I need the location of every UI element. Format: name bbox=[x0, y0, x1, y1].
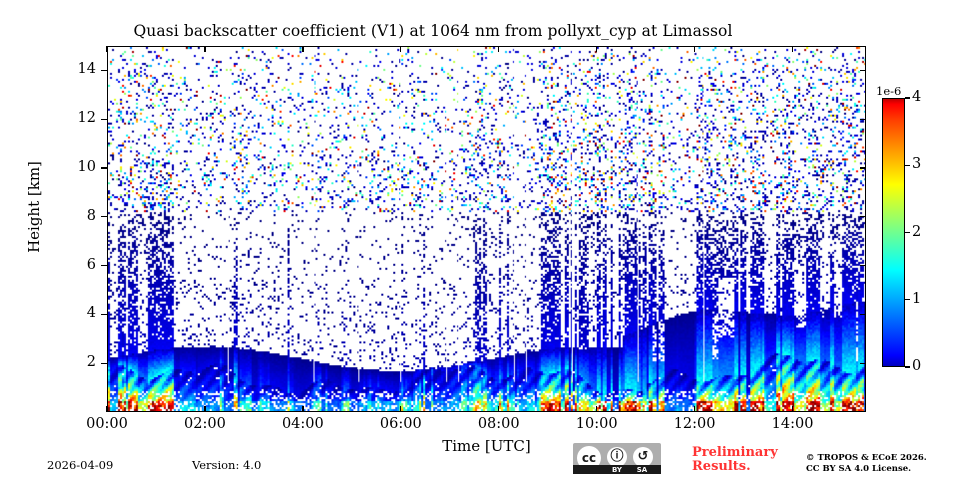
x-tick-mark bbox=[302, 46, 303, 52]
x-tick-mark bbox=[400, 46, 401, 52]
x-tick-mark bbox=[792, 46, 793, 52]
x-tick-mark bbox=[204, 406, 205, 412]
colorbar-tick-mark bbox=[905, 232, 910, 233]
x-tick-label: 02:00 bbox=[170, 416, 240, 432]
colorbar-tick-label: 1 bbox=[912, 291, 921, 307]
y-tick-mark bbox=[101, 167, 107, 168]
x-tick-label: 06:00 bbox=[366, 416, 436, 432]
cc-license-badge-icon[interactable]: cc ⓘ ↺ BY SA bbox=[573, 443, 661, 474]
page-title: Quasi backscatter coefficient (V1) at 10… bbox=[0, 22, 866, 40]
y-tick-label: 12 bbox=[56, 110, 96, 126]
y-tick-mark bbox=[860, 363, 866, 364]
x-tick-label: 14:00 bbox=[758, 416, 828, 432]
cc-sa-sharealike-icon: ↺ bbox=[633, 447, 653, 467]
y-tick-mark bbox=[860, 119, 866, 120]
x-tick-mark bbox=[106, 406, 107, 412]
y-tick-mark bbox=[860, 70, 866, 71]
x-tick-label: 10:00 bbox=[562, 416, 632, 432]
preliminary-results-notice: Preliminary Results. bbox=[692, 446, 778, 474]
cc-by-person-icon: ⓘ bbox=[607, 447, 627, 467]
preliminary-line-1: Preliminary bbox=[692, 446, 778, 460]
x-tick-mark bbox=[792, 406, 793, 412]
footer-date: 2026-04-09 bbox=[47, 458, 113, 472]
colorbar-tick-mark bbox=[905, 366, 910, 367]
copyright-line-1: © TROPOS & ECoE 2026. bbox=[806, 453, 927, 464]
colorbar-tick-label: 2 bbox=[912, 224, 921, 240]
y-tick-mark bbox=[860, 167, 866, 168]
copyright-notice: © TROPOS & ECoE 2026. CC BY SA 4.0 Licen… bbox=[806, 453, 927, 475]
y-tick-mark bbox=[860, 216, 866, 217]
y-tick-mark bbox=[101, 265, 107, 266]
cc-badge-top: cc ⓘ ↺ bbox=[573, 443, 661, 465]
x-tick-mark bbox=[400, 406, 401, 412]
y-tick-mark bbox=[101, 363, 107, 364]
y-tick-mark bbox=[860, 265, 866, 266]
copyright-line-2: CC BY SA 4.0 License. bbox=[806, 464, 927, 475]
cc-sa-label: SA bbox=[631, 466, 653, 474]
y-tick-mark bbox=[101, 70, 107, 71]
y-tick-label: 6 bbox=[56, 257, 96, 273]
y-tick-mark bbox=[101, 216, 107, 217]
plot-area[interactable] bbox=[107, 46, 866, 412]
y-tick-label: 8 bbox=[56, 208, 96, 224]
x-tick-label: 00:00 bbox=[72, 416, 142, 432]
x-tick-mark bbox=[498, 406, 499, 412]
y-tick-mark bbox=[101, 314, 107, 315]
cc-by-label: BY bbox=[606, 466, 628, 474]
colorbar-tick-label: 0 bbox=[912, 358, 921, 374]
x-tick-mark bbox=[694, 46, 695, 52]
x-tick-mark bbox=[596, 46, 597, 52]
x-tick-mark bbox=[596, 406, 597, 412]
x-tick-label: 12:00 bbox=[660, 416, 730, 432]
colorbar-tick-label: 4 bbox=[912, 89, 921, 105]
x-tick-mark bbox=[694, 406, 695, 412]
y-tick-mark bbox=[101, 119, 107, 120]
colorbar-exponent-label: 1e-6 bbox=[876, 84, 901, 98]
y-tick-label: 4 bbox=[56, 305, 96, 321]
x-tick-mark bbox=[106, 46, 107, 52]
footer-version: Version: 4.0 bbox=[192, 458, 261, 472]
y-tick-label: 14 bbox=[56, 61, 96, 77]
x-tick-label: 04:00 bbox=[268, 416, 338, 432]
y-axis-label: Height [km] bbox=[25, 137, 43, 277]
x-tick-mark bbox=[302, 406, 303, 412]
y-tick-label: 2 bbox=[56, 354, 96, 370]
x-tick-label: 08:00 bbox=[464, 416, 534, 432]
colorbar-tick-label: 3 bbox=[912, 156, 921, 172]
colorbar-tick-mark bbox=[905, 165, 910, 166]
preliminary-line-2: Results. bbox=[692, 460, 778, 474]
y-tick-mark bbox=[860, 314, 866, 315]
colorbar-tick-mark bbox=[905, 97, 910, 98]
lidar-heatmap bbox=[108, 47, 865, 411]
colorbar[interactable] bbox=[882, 98, 905, 367]
y-tick-label: 10 bbox=[56, 159, 96, 175]
x-tick-mark bbox=[204, 46, 205, 52]
colorbar-tick-mark bbox=[905, 299, 910, 300]
colorbar-gradient bbox=[882, 98, 905, 367]
x-tick-mark bbox=[498, 46, 499, 52]
